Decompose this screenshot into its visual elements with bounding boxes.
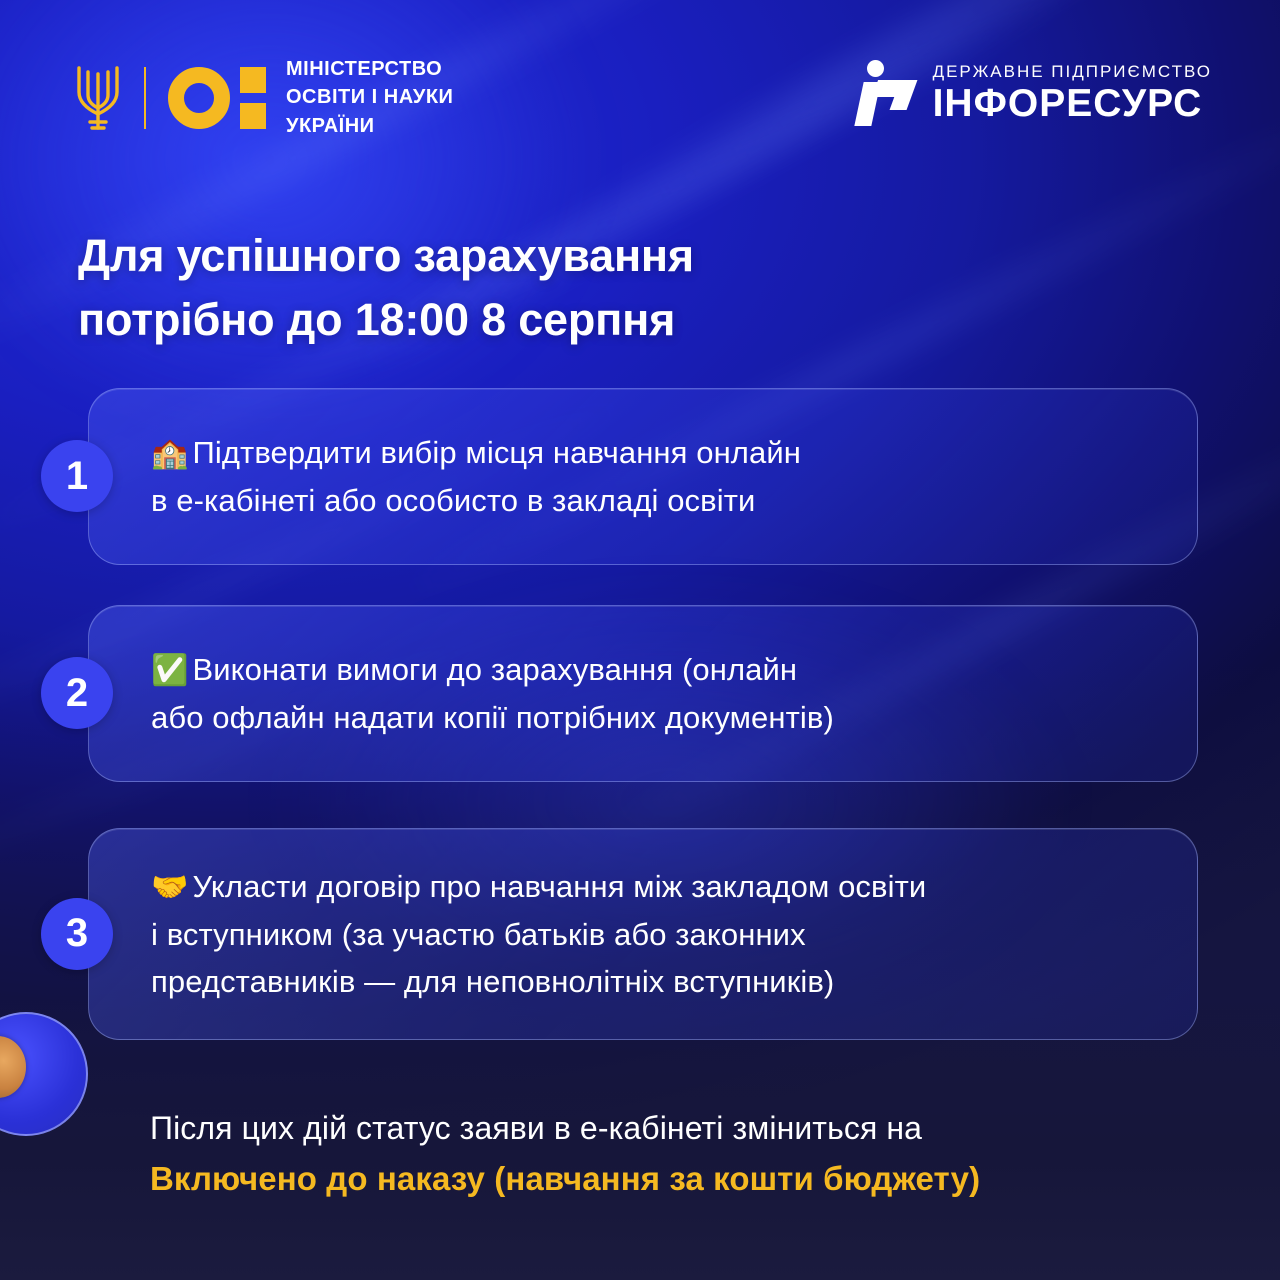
footer-status-highlight: Включено до наказу (навчання за кошти бю… bbox=[150, 1155, 1150, 1203]
step-card: 1 🏫Підтвердити вибір місця навчання онла… bbox=[88, 388, 1198, 565]
step-line-2: і вступником (за участю батьків або зако… bbox=[151, 911, 1153, 958]
step-line-2: або офлайн надати копії потрібних докуме… bbox=[151, 694, 1153, 741]
ministry-line-2: освіти і науки bbox=[286, 83, 453, 111]
poster-root: Міністерство освіти і науки України Держ… bbox=[0, 0, 1280, 1280]
page-title-line-2: потрібно до 18:00 8 серпня bbox=[78, 288, 978, 352]
trident-icon bbox=[72, 62, 124, 134]
mon-colon-shape bbox=[240, 67, 266, 129]
footer-line-1: Після цих дій статус заяви в е-кабінеті … bbox=[150, 1105, 1150, 1151]
list-item: 2 ✅Виконати вимоги до зарахування (онлай… bbox=[88, 605, 1198, 782]
handshake-icon: 🤝 bbox=[151, 871, 188, 904]
inforesurs-logo: Державне підприємство Інфоресурс bbox=[853, 58, 1212, 126]
header: Міністерство освіти і науки України Держ… bbox=[0, 0, 1280, 170]
list-item: 1 🏫Підтвердити вибір місця навчання онла… bbox=[88, 388, 1198, 565]
inforesurs-figure-icon bbox=[853, 58, 917, 126]
step-line-1-text: Підтвердити вибір місця навчання онлайн bbox=[192, 435, 801, 470]
step-line-1: ✅Виконати вимоги до зарахування (онлайн bbox=[151, 646, 1153, 694]
step-line-2: в е-кабінеті або особисто в закладі осві… bbox=[151, 477, 1153, 524]
mon-o-colon-icon bbox=[168, 67, 266, 129]
ministry-line-1: Міністерство bbox=[286, 55, 453, 83]
check-mark-icon: ✅ bbox=[151, 654, 188, 687]
logo-divider bbox=[144, 67, 146, 129]
page-title: Для успішного зарахування потрібно до 18… bbox=[78, 224, 978, 352]
step-line-1-text: Виконати вимоги до зарахування (онлайн bbox=[192, 652, 797, 687]
step-card: 2 ✅Виконати вимоги до зарахування (онлай… bbox=[88, 605, 1198, 782]
step-number-badge: 2 bbox=[41, 657, 113, 729]
ministry-name: Міністерство освіти і науки України bbox=[286, 55, 453, 140]
mon-o-shape bbox=[168, 67, 230, 129]
step-number-badge: 3 bbox=[41, 898, 113, 970]
step-text: 🏫Підтвердити вибір місця навчання онлайн… bbox=[151, 429, 1153, 524]
school-icon: 🏫 bbox=[151, 437, 188, 470]
step-card: 3 🤝Укласти договір про навчання між закл… bbox=[88, 828, 1198, 1040]
step-text: ✅Виконати вимоги до зарахування (онлайн … bbox=[151, 646, 1153, 741]
inforesurs-name: Державне підприємство Інфоресурс bbox=[933, 62, 1212, 123]
step-line-1: 🤝Укласти договір про навчання між заклад… bbox=[151, 863, 1153, 911]
step-line-3: представників — для неповнолітніх вступн… bbox=[151, 958, 1153, 1005]
inforesurs-subtitle: Державне підприємство bbox=[933, 62, 1212, 82]
step-line-1: 🏫Підтвердити вибір місця навчання онлайн bbox=[151, 429, 1153, 477]
step-line-1-text: Укласти договір про навчання між закладо… bbox=[192, 869, 926, 904]
inforesurs-title: Інфоресурс bbox=[933, 84, 1212, 123]
page-title-line-1: Для успішного зарахування bbox=[78, 224, 978, 288]
list-item: 3 🤝Укласти договір про навчання між закл… bbox=[88, 828, 1198, 1040]
step-number-badge: 1 bbox=[41, 440, 113, 512]
step-text: 🤝Укласти договір про навчання між заклад… bbox=[151, 863, 1153, 1005]
footer-note: Після цих дій статус заяви в е-кабінеті … bbox=[150, 1105, 1150, 1203]
ministry-logo: Міністерство освіти і науки України bbox=[72, 55, 453, 140]
ministry-line-3: України bbox=[286, 112, 453, 140]
